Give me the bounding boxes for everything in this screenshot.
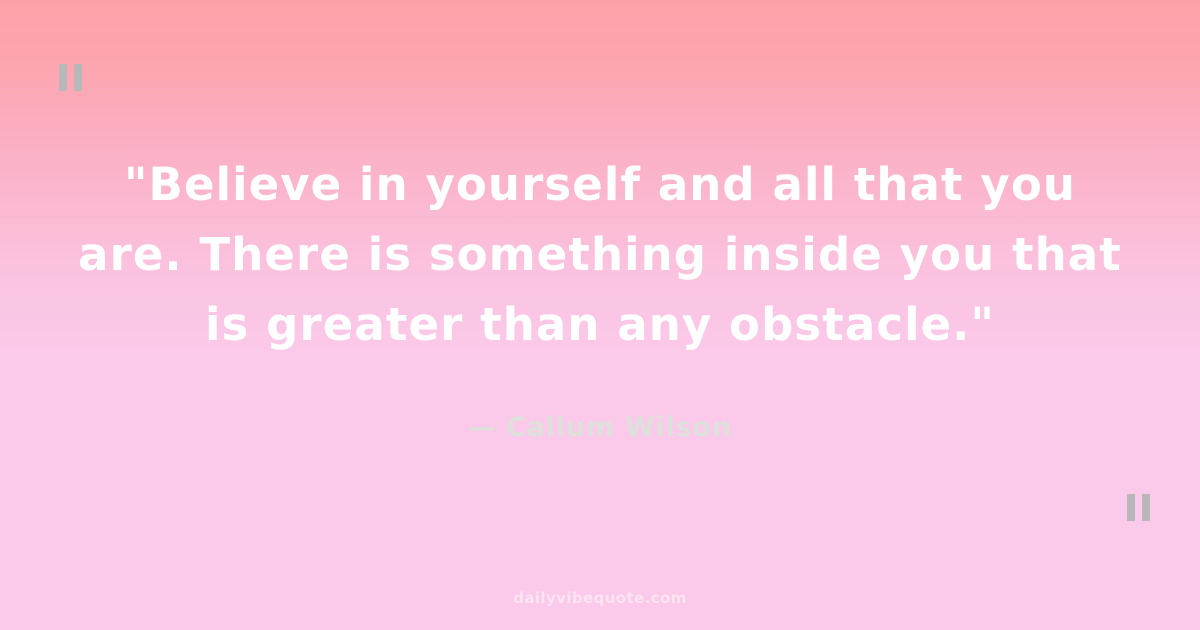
quote-card: "Believe in yourself and all that you ar… (0, 0, 1200, 630)
quote-mark-close-icon (1127, 494, 1150, 521)
site-watermark: dailyvibequote.com (0, 589, 1200, 607)
quote-content-area: "Believe in yourself and all that you ar… (0, 0, 1200, 630)
quote-bar-left (1127, 494, 1135, 521)
quote-bar-right (1142, 494, 1150, 521)
quote-attribution: — Callum Wilson (0, 412, 1200, 443)
quote-text: "Believe in yourself and all that you ar… (0, 150, 1200, 360)
